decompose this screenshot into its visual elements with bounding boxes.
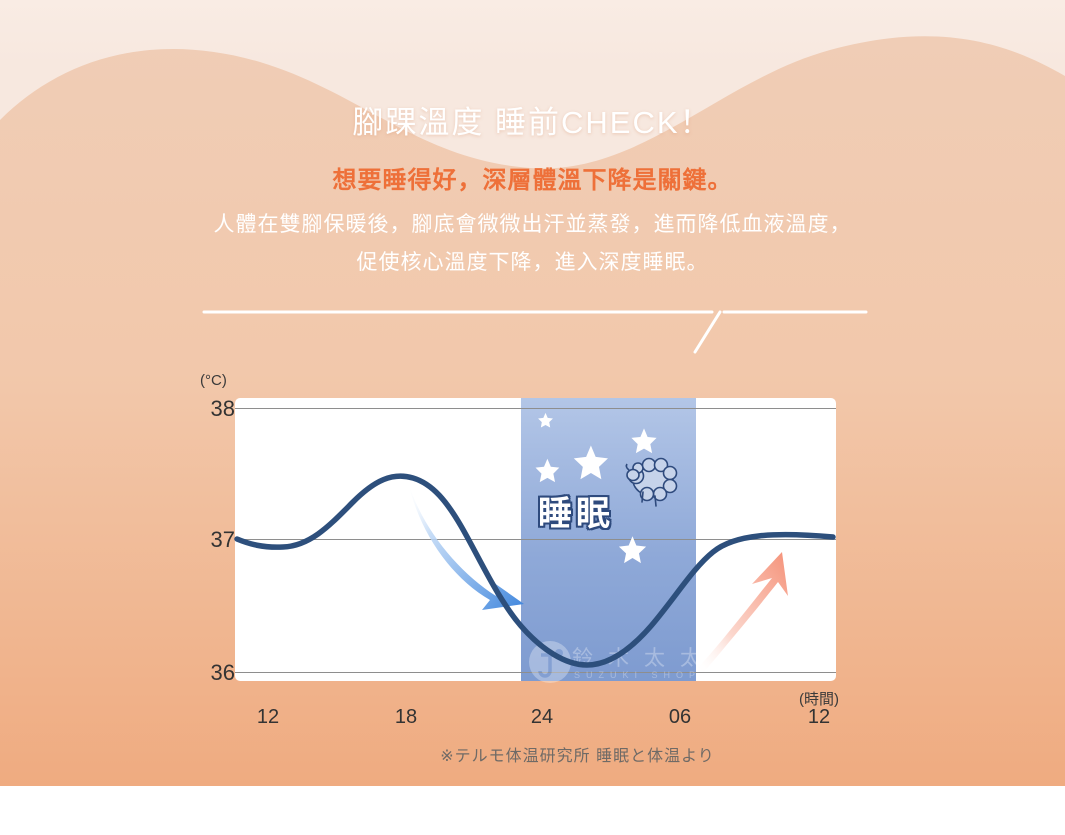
x-tick-06: 06 [640, 706, 720, 729]
body-text-line-1: 人體在雙腳保暖後，腳底會微微出汗並蒸發，進而降低血液溫度， [0, 210, 1065, 240]
decorative-divider [200, 300, 870, 360]
y-tick-36: 36 [193, 660, 235, 686]
temperature-curve [235, 398, 836, 681]
x-tick-12b: 12 [779, 706, 859, 729]
source-note-text: ※テルモ体温研究所 睡眠と体温より [440, 742, 715, 766]
temperature-chart: 鈴木太太 SUZUKI SHOP [235, 398, 836, 681]
body-text-line-2: 促使核心溫度下降，進入深度睡眠。 [0, 248, 1065, 278]
source-note: ※テルモ体温研究所 睡眠と体温より [0, 742, 1065, 766]
y-axis-unit: (°C) [200, 372, 227, 389]
infographic-page: 腳踝溫度 睡前CHECK！ 想要睡得好，深層體溫下降是關鍵。 人體在雙腳保暖後，… [0, 0, 1065, 835]
y-tick-37: 37 [193, 527, 235, 553]
sleep-label: 睡眠 [538, 486, 614, 535]
x-tick-12a: 12 [228, 706, 308, 729]
page-subtitle: 想要睡得好，深層體溫下降是關鍵。 [0, 165, 1065, 197]
page-title: 腳踝溫度 睡前CHECK！ [0, 103, 1065, 143]
x-axis-unit: (時間) [774, 688, 864, 709]
background-bottom [0, 786, 1065, 835]
y-tick-38: 38 [193, 396, 235, 422]
x-tick-18: 18 [366, 706, 446, 729]
x-tick-24: 24 [502, 706, 582, 729]
